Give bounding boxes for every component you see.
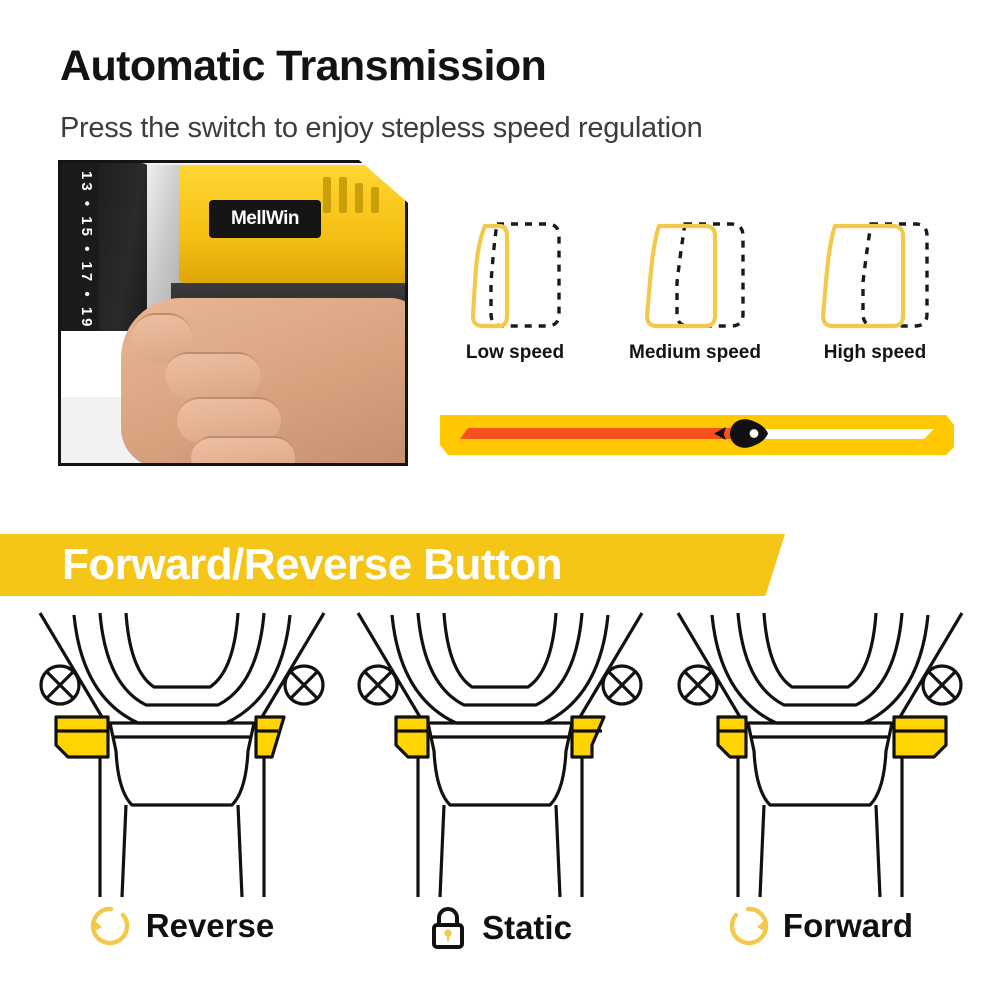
- speed-icons-group: Low speed Medium speed High speed: [435, 218, 955, 388]
- diagram-label: Static: [482, 909, 572, 947]
- diagram-static: Static: [340, 605, 660, 1000]
- diagram-reverse: Reverse: [22, 605, 342, 1000]
- lock-icon: [428, 905, 468, 951]
- page-subtitle: Press the switch to enjoy stepless speed…: [60, 112, 702, 145]
- finger: [165, 352, 261, 398]
- speed-slider-graphic[interactable]: [438, 405, 956, 463]
- brand-name: MellWin: [231, 208, 299, 230]
- speed-slider[interactable]: [438, 405, 956, 463]
- drill-top-view-forward: [660, 605, 980, 905]
- brand-badge: MellWin: [209, 200, 321, 238]
- forward-reverse-button-left: [56, 717, 108, 757]
- vent-slot: [323, 177, 331, 213]
- forward-reverse-button-left: [718, 717, 746, 757]
- speed-label: High speed: [795, 342, 955, 364]
- finger: [191, 436, 295, 466]
- speed-item-low: Low speed: [435, 218, 595, 388]
- rotate-counter-clockwise-icon: [90, 905, 132, 947]
- speed-item-high: High speed: [795, 218, 955, 388]
- drill-top-view-static: [340, 605, 660, 905]
- diagram-caption-static: Static: [340, 905, 660, 951]
- diagram-label: Forward: [783, 907, 913, 945]
- button-position-diagrams: Reverse: [0, 605, 1000, 1000]
- banner-title: Forward/Reverse Button: [62, 540, 562, 590]
- automatic-transmission-section: Automatic Transmission Press the switch …: [0, 0, 1000, 500]
- forward-reverse-button-left: [396, 717, 428, 757]
- rotate-clockwise-icon: [727, 905, 769, 947]
- speed-label: Medium speed: [615, 342, 775, 364]
- drill-in-hand-photo: 13 • 15 • 17 • 19 • 21 MellWin: [58, 160, 408, 466]
- diagram-caption-forward: Forward: [660, 905, 980, 947]
- forward-reverse-button-right: [256, 717, 284, 757]
- vent-slot: [371, 187, 379, 213]
- forward-reverse-banner: Forward/Reverse Button: [0, 534, 1000, 600]
- trigger-outline-high-icon: [819, 218, 931, 336]
- drill-top-view-reverse: [22, 605, 342, 905]
- slider-track-filled: [460, 428, 738, 439]
- diagram-forward: Forward: [660, 605, 980, 1000]
- trigger-outline-low-icon: [459, 218, 571, 336]
- forward-reverse-button-right: [894, 717, 946, 757]
- vent-slot: [339, 177, 347, 213]
- forward-reverse-button-right: [572, 717, 604, 757]
- diagram-label: Reverse: [146, 907, 274, 945]
- photo-illustration: 13 • 15 • 17 • 19 • 21 MellWin: [61, 163, 405, 463]
- speed-item-medium: Medium speed: [615, 218, 775, 388]
- diagram-caption-reverse: Reverse: [22, 905, 342, 947]
- trigger-outline-medium-icon: [639, 218, 751, 336]
- page-title: Automatic Transmission: [60, 42, 546, 91]
- speed-label: Low speed: [435, 342, 595, 364]
- vent-slot: [355, 183, 363, 213]
